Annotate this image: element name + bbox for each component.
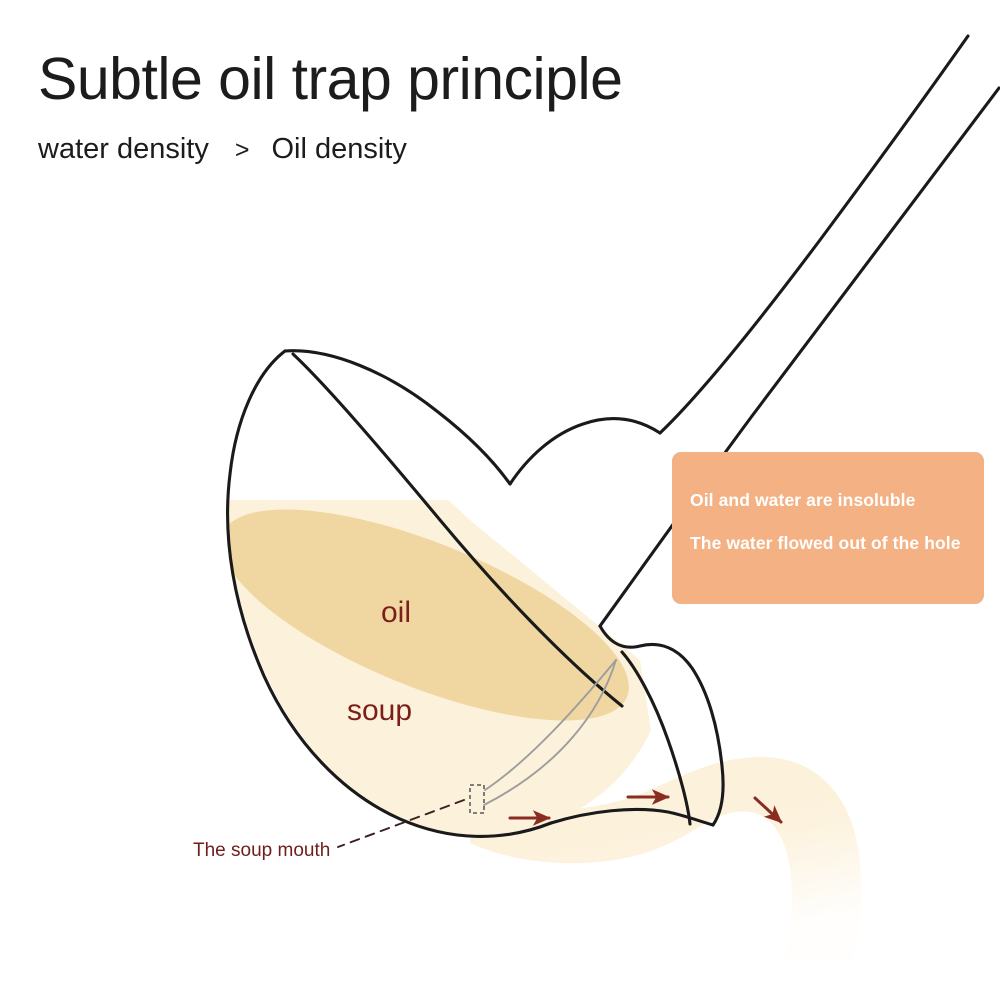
callout-line-1: Oil and water are insoluble (690, 490, 984, 511)
bowl-rim (285, 351, 510, 484)
soup-layer-label: soup (347, 694, 412, 728)
handle-outer-edge (660, 36, 968, 433)
diagram-canvas: Subtle oil trap principle water density … (0, 0, 1000, 1000)
ladle-back-wall (510, 418, 660, 484)
callout-line-2: The water flowed out of the hole (690, 533, 984, 554)
callout-box: Oil and water are insoluble The water fl… (672, 452, 984, 604)
oil-layer-label: oil (381, 596, 411, 630)
soup-mouth-label: The soup mouth (193, 840, 330, 862)
